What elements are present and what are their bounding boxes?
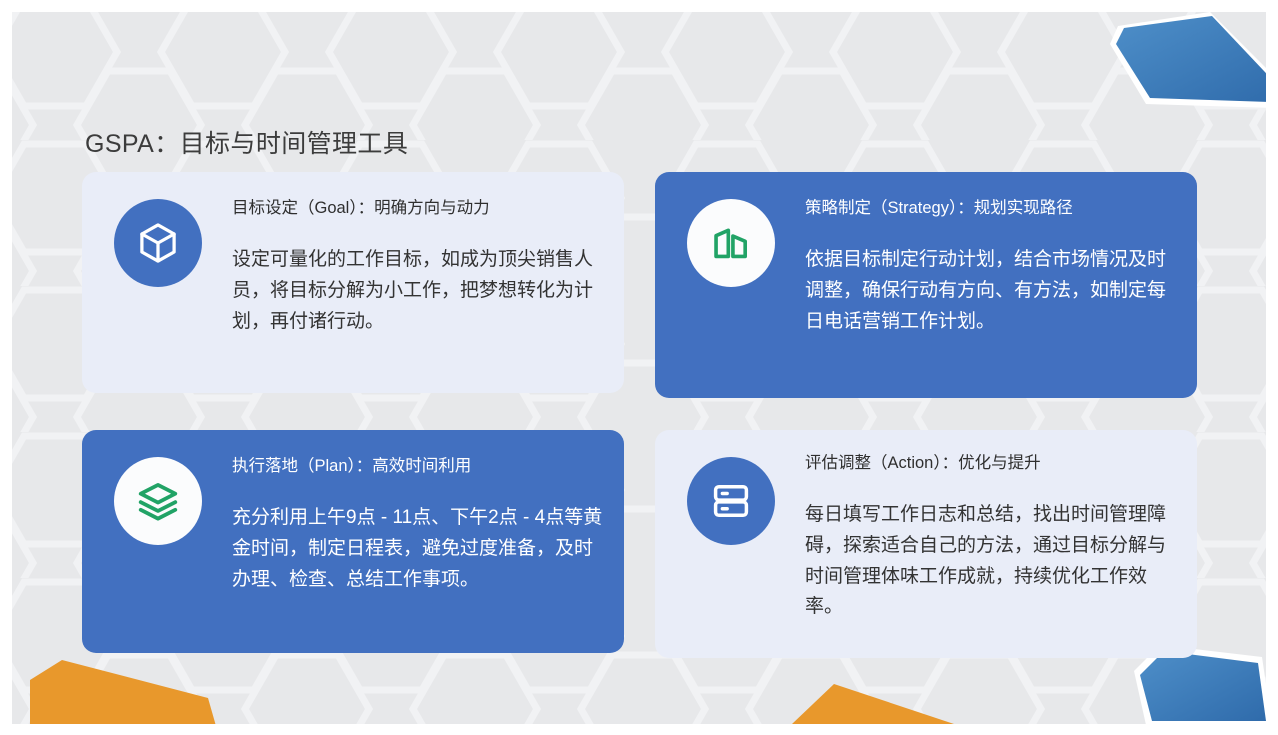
card-action-body: 评估调整（Action）：优化与提升 每日填写工作日志和总结，找出时间管理障碍，…	[805, 452, 1177, 623]
card-plan-heading: 执行落地（Plan）：高效时间利用	[232, 455, 607, 478]
card-goal-body: 目标设定（Goal）：明确方向与动力 设定可量化的工作目标，如成为顶尖销售人员，…	[232, 197, 602, 337]
card-strategy-heading: 策略制定（Strategy）：规划实现路径	[805, 197, 1177, 220]
blocks-icon	[708, 220, 754, 266]
card-goal-icon-badge	[114, 199, 202, 287]
card-goal-heading: 目标设定（Goal）：明确方向与动力	[232, 197, 602, 220]
bottom-right-orange-triangle	[782, 681, 962, 724]
card-plan-text: 充分利用上午9点 - 11点、下午2点 - 4点等黄金时间，制定日程表，避免过度…	[232, 503, 607, 595]
card-action-icon-badge	[687, 457, 775, 545]
page-title: GSPA：目标与时间管理工具	[85, 124, 408, 160]
slide: GSPA：目标与时间管理工具 目标设定（Goal）：明确方向与动力 设定可量化的…	[0, 0, 1278, 735]
card-strategy-icon-badge	[687, 199, 775, 287]
card-action-text: 每日填写工作日志和总结，找出时间管理障碍，探索适合自己的方法，通过目标分解与时间…	[805, 500, 1177, 623]
card-goal-text: 设定可量化的工作目标，如成为顶尖销售人员，将目标分解为小工作，把梦想转化为计划，…	[232, 245, 602, 337]
layers-icon	[135, 478, 181, 524]
card-plan-body: 执行落地（Plan）：高效时间利用 充分利用上午9点 - 11点、下午2点 - …	[232, 455, 607, 595]
bottom-left-orange-polygon	[20, 648, 230, 724]
card-strategy-body: 策略制定（Strategy）：规划实现路径 依据目标制定行动计划，结合市场情况及…	[805, 197, 1177, 337]
card-strategy-text: 依据目标制定行动计划，结合市场情况及时调整，确保行动有方向、有方法，如制定每日电…	[805, 245, 1177, 337]
top-right-blue-polygon	[1052, 12, 1266, 108]
cube-icon	[135, 220, 181, 266]
card-plan-icon-badge	[114, 457, 202, 545]
card-action-heading: 评估调整（Action）：优化与提升	[805, 452, 1177, 475]
server-rack-icon	[709, 479, 753, 523]
